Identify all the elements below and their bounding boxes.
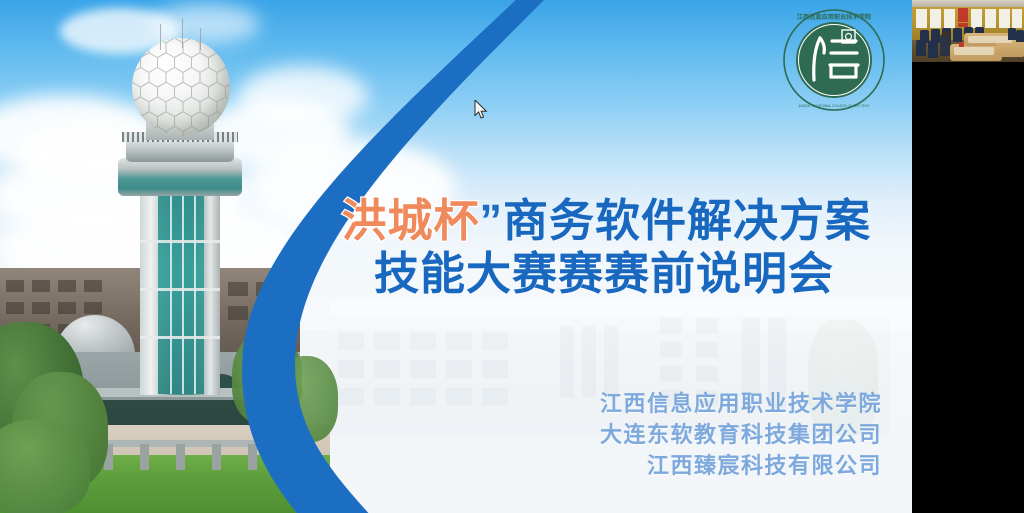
meeting-room-ceiling (912, 0, 1024, 7)
screen-share-view: “洪城杯”商务软件解决方案 技能大赛赛赛前说明会 江西信息应用职业技术学院 大连… (0, 0, 1024, 513)
radome-hex-pattern (132, 38, 230, 136)
svg-text:江西信息应用职业技术学院: 江西信息应用职业技术学院 (797, 13, 872, 21)
video-sidebar-panel (912, 0, 1024, 513)
tree (274, 356, 338, 442)
cloud (150, 4, 260, 44)
tree (0, 420, 90, 513)
arrow-cursor (474, 100, 488, 119)
tower-observation-deck (118, 158, 242, 196)
college-seal-logo: 江西信息应用职业技术学院 JIANGXI VOCATIONAL COLLEGE … (782, 8, 886, 112)
title-line-1-rest: 商务软件解决方案 (503, 195, 871, 246)
title-line-1: “洪城杯”商务软件解决方案 (318, 198, 900, 245)
organizer-line: 大连东软教育科技集团公司 (600, 419, 882, 450)
quote-open: “ (318, 195, 342, 246)
organizer-list: 江西信息应用职业技术学院 大连东软教育科技集团公司 江西臻宸科技有限公司 (600, 388, 882, 482)
cloud (238, 66, 368, 126)
presentation-slide: “洪城杯”商务软件解决方案 技能大赛赛赛前说明会 江西信息应用职业技术学院 大连… (0, 0, 912, 513)
quote-close: ” (480, 195, 504, 246)
slide-title-block: “洪城杯”商务软件解决方案 技能大赛赛赛前说明会 (300, 198, 900, 298)
title-highlight: 洪城杯 (342, 195, 480, 246)
organizer-line: 江西臻宸科技有限公司 (600, 450, 882, 481)
svg-text:JIANGXI VOCATIONAL COLLEGE OF: JIANGXI VOCATIONAL COLLEGE OF INFO TECH (798, 104, 871, 108)
participant-video-thumbnail[interactable] (912, 0, 1024, 62)
title-line-2: 技能大赛赛赛前说明会 (374, 251, 900, 298)
organizer-line: 江西信息应用职业技术学院 (600, 388, 882, 419)
